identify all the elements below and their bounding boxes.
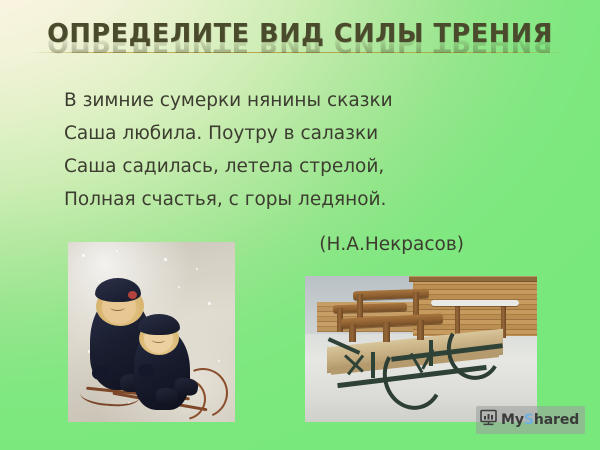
child-elder-smile [110, 304, 125, 311]
child-younger-boot [155, 387, 178, 404]
children-on-sled-painting [68, 242, 235, 422]
poem-line: Саша любила. Поутру в салазки [64, 117, 534, 150]
slide-title: ОПРЕДЕЛИТЕ ВИД СИЛЫ ТРЕНИЯ [0, 22, 600, 48]
sleigh-seat-post [357, 294, 363, 320]
slide-title-block: ОПРЕДЕЛИТЕ ВИД СИЛЫ ТРЕНИЯ ОПРЕДЕЛИТЕ ВИ… [0, 22, 600, 48]
presentation-slide: ОПРЕДЕЛИТЕ ВИД СИЛЫ ТРЕНИЯ ОПРЕДЕЛИТЕ ВИ… [0, 0, 600, 450]
sleigh-upright [371, 352, 375, 378]
snow-capped-beam [431, 300, 519, 306]
presentation-chart-icon [480, 409, 497, 431]
poem-line: В зимние сумерки нянины сказки [64, 84, 534, 117]
sleigh-seat-leg [417, 320, 424, 340]
poem-text-block: В зимние сумерки нянины сказки Саша люби… [64, 84, 534, 216]
child-elder-hat-bow [128, 291, 137, 299]
child-younger-hat [138, 314, 180, 335]
poem-line: Саша садилась, летела стрелой, [64, 150, 534, 183]
myshared-watermark-label: MyShared [501, 413, 579, 427]
sleigh-seat-leg [383, 322, 390, 342]
wooden-sleigh-photo [305, 276, 537, 422]
log-cabin-roof-eave [409, 276, 537, 282]
sleigh-upright [429, 340, 433, 366]
sleigh-seat-leg [349, 324, 356, 342]
child-younger-smile [152, 337, 165, 343]
child-younger-mitten [138, 364, 154, 377]
title-underline-rule [30, 52, 570, 53]
child-elder-mitten [92, 366, 110, 380]
myshared-watermark: MyShared [476, 406, 585, 434]
poem-line: Полная счастья, с горы ледяной. [64, 183, 534, 216]
